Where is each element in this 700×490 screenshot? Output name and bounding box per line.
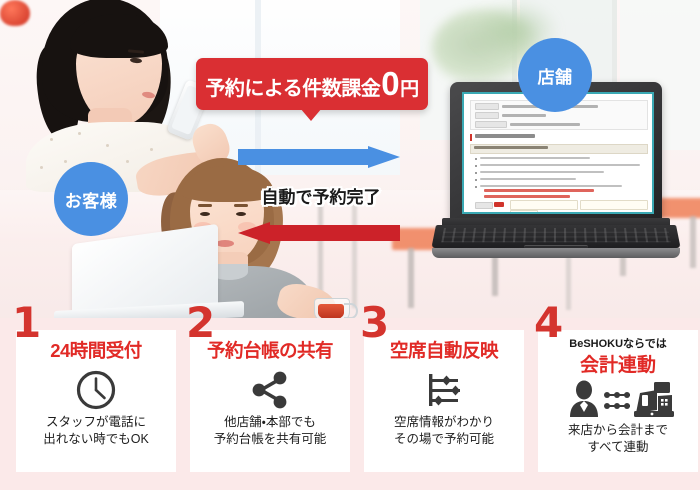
feature-card-title: 24時間受付 xyxy=(50,337,142,363)
feature-card-desc: スタッフが電話に 出れない時でもOK xyxy=(43,414,149,448)
badge-store: 店舗 xyxy=(518,38,592,112)
laptop-keys xyxy=(441,228,670,242)
feature-card-number: 3 xyxy=(360,302,389,344)
table-leg-4 xyxy=(690,216,696,268)
flow-middle-label: 自動で予約完了 xyxy=(238,183,404,208)
tea-cup-handle xyxy=(344,303,358,319)
chair-leg-2 xyxy=(352,196,357,308)
feature-card-4[interactable]: 4 BeSHOKUならでは 会計連動 xyxy=(538,330,698,472)
arrow-head xyxy=(238,222,270,244)
screen-warning-line-2 xyxy=(484,195,570,198)
feature-card-desc: 空席情報がわかり その場で予約可能 xyxy=(394,414,494,448)
pricing-callout-zero: 0 xyxy=(381,67,399,100)
feature-card-desc-line1: 空席情報がわかり xyxy=(394,414,494,431)
feature-card-title: 会計連動 xyxy=(580,350,656,377)
abacus-sliders-icon xyxy=(422,367,466,413)
blue-arrow-right xyxy=(238,146,400,168)
feature-card-3[interactable]: 3 空席自動反映 空席情報がわかり その場で予約可能 xyxy=(364,330,524,472)
eye-right xyxy=(236,212,246,216)
red-arrow-left xyxy=(238,222,400,244)
pricing-callout-banner: 予約による件数課金 0 円 xyxy=(196,58,428,110)
feature-card-desc-line1: 他店舗・本部でも xyxy=(214,414,327,431)
screen-section-tick xyxy=(470,134,472,141)
feature-card-list: 1 24時間受付 スタッフが電話に 出れない時でもOK 2 予約台帳の共有 xyxy=(0,330,700,480)
feature-card-title: 空席自動反映 xyxy=(390,337,498,363)
pricing-callout-tail xyxy=(300,108,322,121)
arrow-head xyxy=(368,146,400,168)
table-leg-1 xyxy=(408,248,414,308)
lips xyxy=(216,240,234,247)
laptop-front-edge xyxy=(432,248,680,258)
feature-card-pretitle: BeSHOKUならでは xyxy=(569,335,666,351)
clock-icon xyxy=(75,367,117,413)
arrow-shaft xyxy=(238,149,370,165)
feature-card-2[interactable]: 2 予約台帳の共有 他店舗・本部でも 予約台帳を共有可能 xyxy=(190,330,350,472)
feature-card-number: 4 xyxy=(534,302,563,344)
eyebrow-left xyxy=(198,204,212,207)
screen-section-title xyxy=(475,134,535,138)
screen-subheader-text xyxy=(474,146,548,149)
eye-left xyxy=(200,212,210,216)
infographic-root: お客様 店舗 予約による件数課金 0 円 自動で予約完了 1 xyxy=(0,0,700,490)
pricing-callout-prefix: 予約による件数課金 xyxy=(205,72,380,101)
screen-warning-line-1 xyxy=(484,189,594,192)
feature-card-desc-line2: すべて連動 xyxy=(568,439,668,456)
pricing-callout-text: 予約による件数課金 0 円 xyxy=(205,67,418,101)
feature-card-number: 1 xyxy=(12,302,41,344)
feature-card-desc: 他店舗・本部でも 予約台帳を共有可能 xyxy=(214,414,327,448)
feature-card-desc-line1: スタッフが電話に xyxy=(43,414,149,431)
arrow-shaft xyxy=(268,225,400,241)
feature-card-desc: 来店から会計まで すべて連動 xyxy=(568,422,668,456)
feature-card-desc-line2: 予約台帳を共有可能 xyxy=(214,431,327,448)
feature-card-desc-line2: 出れない時でもOK xyxy=(43,431,149,448)
scene-photo: お客様 店舗 予約による件数課金 0 円 自動で予約完了 xyxy=(0,0,700,320)
badge-store-label: 店舗 xyxy=(538,63,573,88)
badge-customer: お客様 xyxy=(54,162,128,236)
person-to-register-icon xyxy=(562,379,674,419)
badge-customer-label: お客様 xyxy=(65,187,118,212)
feature-card-1[interactable]: 1 24時間受付 スタッフが電話に 出れない時でもOK xyxy=(16,330,176,472)
feature-card-desc-line2: その場で予約可能 xyxy=(394,431,494,448)
pricing-callout-yen: 円 xyxy=(400,74,419,101)
feature-card-desc-line1: 来店から会計まで xyxy=(568,422,668,439)
feature-card-title: 予約台帳の共有 xyxy=(207,337,333,363)
share-icon xyxy=(248,367,292,413)
feature-card-number: 2 xyxy=(186,302,215,344)
